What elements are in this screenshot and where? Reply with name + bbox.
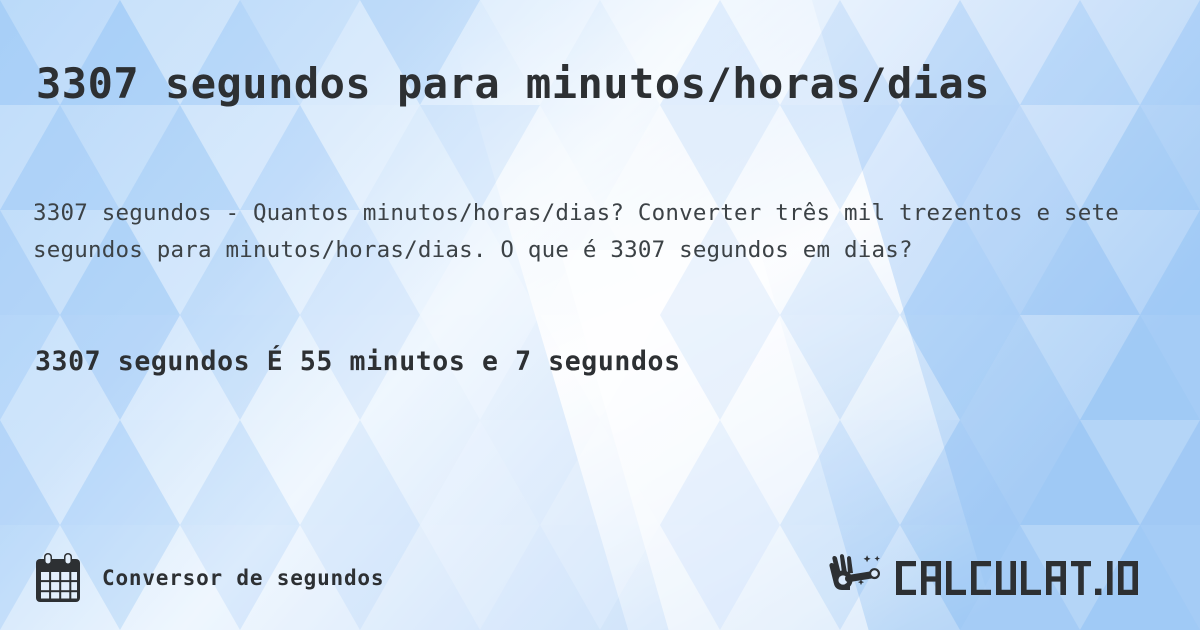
conversion-result: 3307 segundos É 55 minutos e 7 segundos bbox=[35, 345, 681, 379]
share-card: 3307 segundos para minutos/horas/dias 33… bbox=[0, 0, 1200, 630]
brand-wordmark bbox=[894, 557, 1166, 599]
magic-wand-hand-icon bbox=[828, 554, 890, 602]
page-description: 3307 segundos - Quantos minutos/horas/di… bbox=[33, 195, 1153, 269]
footer-converter-label: Conversor de segundos bbox=[102, 566, 384, 590]
footer-converter-link[interactable]: Conversor de segundos bbox=[34, 553, 384, 603]
card-footer: Conversor de segundos bbox=[0, 548, 1200, 608]
card-content: 3307 segundos para minutos/horas/dias 33… bbox=[0, 0, 1200, 630]
calendar-icon bbox=[34, 553, 82, 603]
brand-logo[interactable] bbox=[828, 554, 1166, 602]
page-title: 3307 segundos para minutos/horas/dias bbox=[36, 58, 1166, 110]
